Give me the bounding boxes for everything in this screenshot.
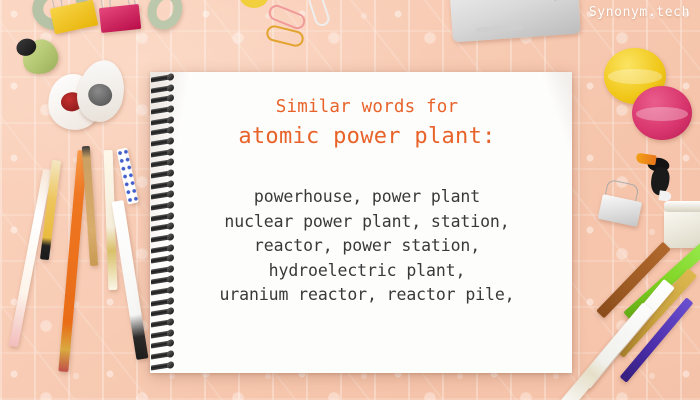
spiral-ring bbox=[151, 330, 171, 338]
spiral-ring bbox=[151, 320, 171, 328]
spiral-ring bbox=[151, 117, 171, 125]
spiral-ring bbox=[151, 224, 171, 232]
spiral-ring bbox=[151, 309, 171, 317]
synonym-list: powerhouse, power plant nuclear power pl… bbox=[176, 185, 558, 308]
spiral-ring bbox=[151, 213, 171, 221]
synonym-line: nuclear power plant, station, bbox=[176, 210, 558, 235]
spiral-ring bbox=[151, 256, 171, 264]
spiral-ring bbox=[151, 351, 171, 359]
spiral-ring bbox=[151, 138, 171, 146]
page-term: atomic power plant: bbox=[176, 122, 558, 152]
notebook-page: Similar words for atomic power plant: po… bbox=[150, 72, 572, 373]
spiral-ring bbox=[151, 277, 171, 285]
spiral-ring bbox=[151, 192, 171, 200]
synonym-line: powerhouse, power plant bbox=[176, 185, 558, 210]
spiral-ring bbox=[151, 106, 171, 114]
spiral-ring bbox=[151, 362, 171, 370]
binder-clip-magenta bbox=[99, 2, 142, 34]
spiral-ring bbox=[151, 202, 171, 210]
spiral-ring bbox=[151, 128, 171, 136]
synonym-line: reactor, power station, bbox=[176, 234, 558, 259]
spiral-ring bbox=[151, 160, 171, 168]
spiral-ring bbox=[151, 181, 171, 189]
spiral-ring bbox=[151, 149, 171, 157]
spiral-ring bbox=[151, 96, 171, 104]
page-content: Similar words for atomic power plant: po… bbox=[176, 94, 558, 308]
spiral-ring bbox=[151, 85, 171, 93]
spiral-binding bbox=[150, 70, 174, 375]
page-heading: Similar words for bbox=[176, 94, 558, 120]
spiral-ring bbox=[151, 266, 171, 274]
toucan-sticker bbox=[633, 149, 685, 201]
spiral-ring bbox=[151, 298, 171, 306]
watermark-logo: Synonym.tech bbox=[589, 5, 690, 20]
spiral-ring bbox=[151, 234, 171, 242]
spiral-ring bbox=[151, 288, 171, 296]
macaron-pink bbox=[632, 86, 692, 140]
synonym-line: hydroelectric plant, bbox=[176, 259, 558, 284]
spiral-ring bbox=[151, 341, 171, 349]
spiral-ring bbox=[151, 170, 171, 178]
synonym-line: uranium reactor, reactor pile, bbox=[176, 283, 558, 308]
spiral-ring bbox=[151, 245, 171, 253]
screenshot-root: Similar words for atomic power plant: po… bbox=[0, 0, 700, 400]
spiral-ring bbox=[151, 74, 171, 82]
paint-jar bbox=[664, 208, 700, 248]
